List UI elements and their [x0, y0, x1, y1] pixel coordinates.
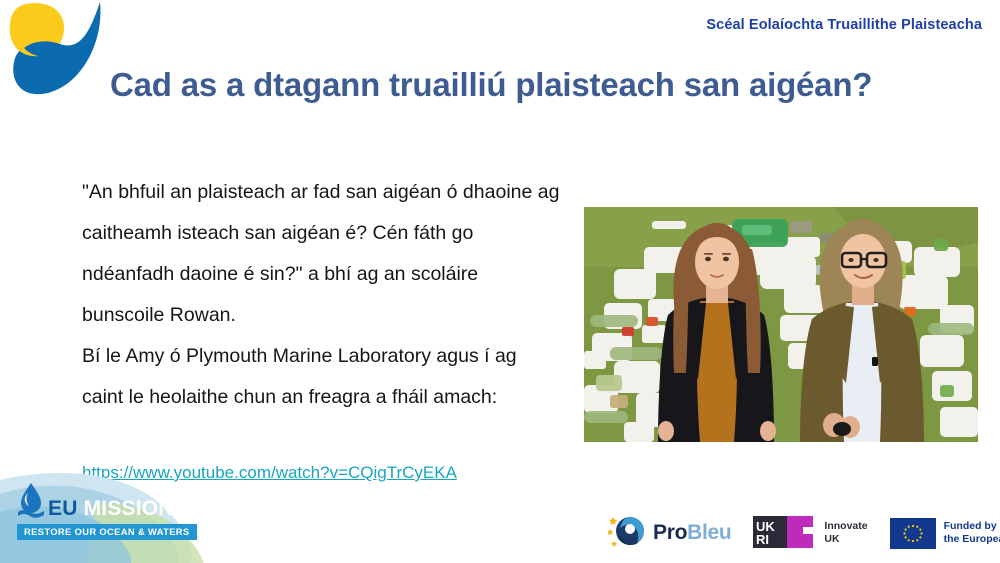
eu-funding-logo: Funded by the European Union: [890, 518, 1000, 549]
probleu-swirl-icon: [608, 512, 648, 555]
page-title: Cad as a dtagann truailliú plaisteach sa…: [110, 64, 910, 106]
body-paragraph-1: "An bhfuil an plaisteach ar fad san aigé…: [82, 172, 562, 336]
body-paragraph-2: Bí le Amy ó Plymouth Marine Laboratory a…: [82, 336, 562, 418]
eu-missions-eu-word: EU: [48, 497, 84, 520]
innovate-uk-wordmark: Innovate UK: [824, 520, 867, 546]
ukri-innovate-uk-logo: UK RI Innovate UK: [753, 512, 867, 555]
slide: Scéal Eolaíochta Truaillithe Plaisteacha…: [0, 0, 1000, 563]
eu-funding-wordmark: Funded by the European Union: [944, 520, 1000, 547]
eu-missions-tagline: RESTORE OUR OCEAN & WATERS: [17, 524, 197, 540]
eu-missions-logo: EU MISSIONS RESTORE OUR OCEAN & WATERS: [0, 460, 216, 563]
video-still[interactable]: [584, 207, 978, 442]
eu-missions-wordmark: EU MISSIONS: [48, 497, 188, 521]
innovate-uk-line2: UK: [824, 533, 839, 545]
eu-funding-line2: the European Union: [944, 533, 1000, 545]
eu-funding-line1: Funded by: [944, 520, 997, 532]
probleu-logo: ProBleu: [608, 512, 731, 555]
probleu-bleu-word: Bleu: [687, 521, 731, 544]
probleu-pro-word: Pro: [653, 521, 687, 544]
probleu-wordmark: ProBleu: [653, 521, 731, 545]
water-droplet-wave-icon: [16, 482, 46, 518]
footer-logo-strip: ProBleu UK RI Innovate UK: [608, 509, 1000, 557]
ukri-innovate-uk-icon: UK RI: [753, 512, 817, 555]
leaf-swoosh-logo: [8, 0, 112, 106]
innovate-uk-line1: Innovate: [824, 520, 867, 532]
svg-text:RI: RI: [756, 532, 769, 547]
eu-flag-icon: [890, 518, 936, 549]
eu-missions-missions-word: MISSIONS: [84, 497, 188, 520]
running-header-title: Scéal Eolaíochta Truaillithe Plaisteacha: [706, 17, 982, 33]
body-copy: "An bhfuil an plaisteach ar fad san aigé…: [82, 172, 562, 418]
